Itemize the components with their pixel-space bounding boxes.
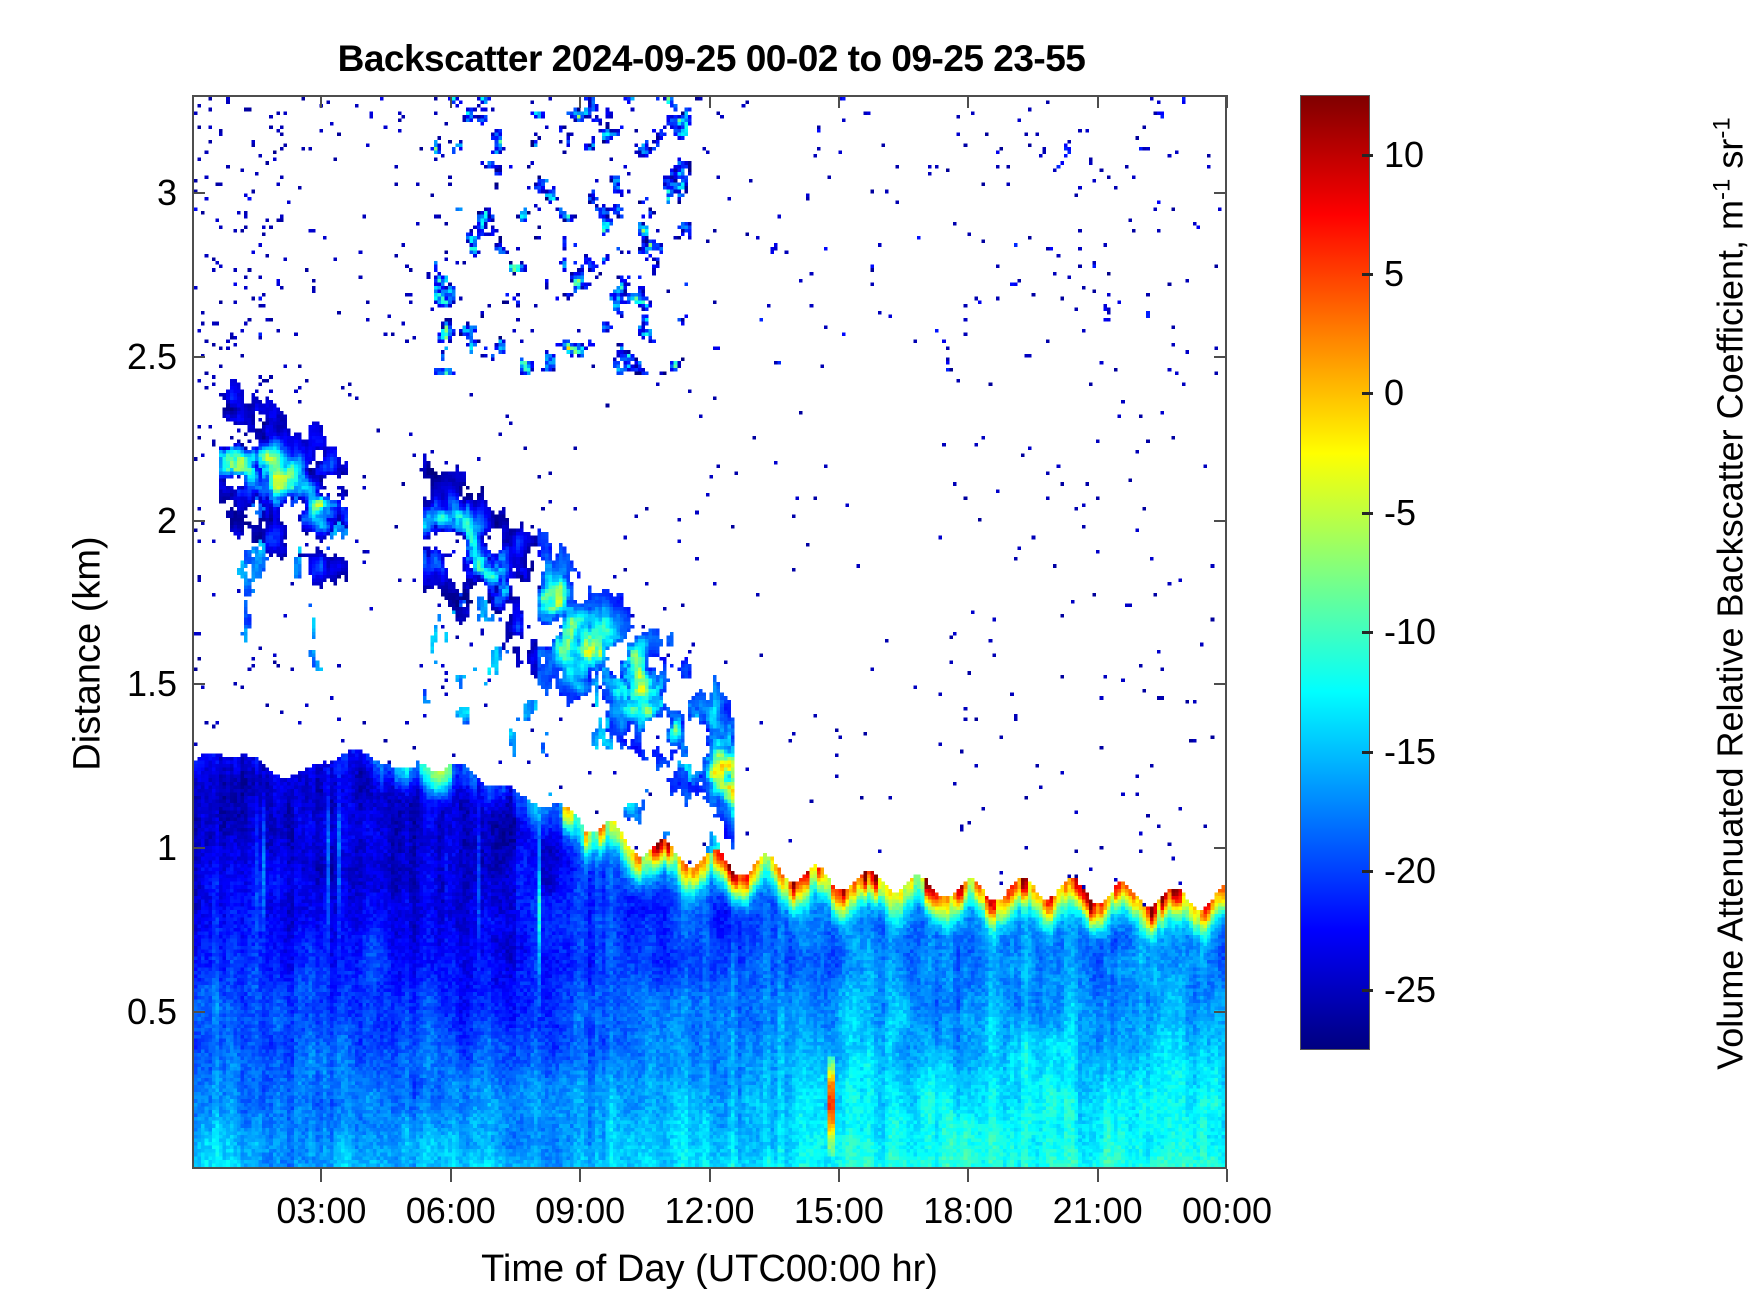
colorbar-tick xyxy=(1362,989,1373,992)
y-axis-tick xyxy=(192,192,205,194)
colorbar-tick-label: -20 xyxy=(1384,850,1436,892)
x-axis-tick-label: 12:00 xyxy=(664,1190,754,1232)
colorbar-label-main: Volume Attenuated Relative Backscatter C… xyxy=(1710,200,1750,1070)
x-axis-tick xyxy=(320,1169,322,1182)
y-axis-tick-label: 0.5 xyxy=(127,991,177,1033)
colorbar-tick xyxy=(1362,273,1373,276)
x-axis-tick xyxy=(579,1169,581,1182)
x-axis-tick xyxy=(450,1169,452,1182)
x-axis-tick-top xyxy=(838,95,840,108)
y-axis-tick xyxy=(192,520,205,522)
y-axis-tick-right xyxy=(1214,847,1227,849)
colorbar-tick xyxy=(1362,631,1373,634)
colorbar-label-exp-1: -1 xyxy=(1709,179,1736,200)
colorbar-tick-label: -10 xyxy=(1384,611,1436,653)
x-axis-tick-label: 00:00 xyxy=(1182,1190,1272,1232)
x-axis-tick-label: 18:00 xyxy=(923,1190,1013,1232)
x-axis-tick-top xyxy=(579,95,581,108)
colorbar-tick-label: 0 xyxy=(1384,372,1404,414)
colorbar-tick-label: -5 xyxy=(1384,492,1416,534)
x-axis-tick xyxy=(838,1169,840,1182)
x-axis-tick-label: 21:00 xyxy=(1053,1190,1143,1232)
y-axis-tick-label: 2 xyxy=(157,500,177,542)
colorbar-tick xyxy=(1362,392,1373,395)
y-axis-tick-right xyxy=(1214,1011,1227,1013)
y-axis-tick-right xyxy=(1214,520,1227,522)
y-axis-label: Distance (km) xyxy=(67,334,110,974)
colorbar-tick xyxy=(1362,512,1373,515)
y-axis-tick xyxy=(192,1011,205,1013)
x-axis-tick xyxy=(709,1169,711,1182)
y-axis-tick xyxy=(192,847,205,849)
x-axis-tick xyxy=(1097,1169,1099,1182)
y-axis-tick-right xyxy=(1214,192,1227,194)
y-axis-tick-right xyxy=(1214,683,1227,685)
colorbar-label-exp-2: -1 xyxy=(1709,117,1736,138)
y-axis-tick-label: 1 xyxy=(157,827,177,869)
colorbar-tick xyxy=(1362,870,1373,873)
x-axis-tick-top xyxy=(1097,95,1099,108)
x-axis-tick xyxy=(1226,1169,1228,1182)
x-axis-tick-top xyxy=(709,95,711,108)
chart-title: Backscatter 2024-09-25 00-02 to 09-25 23… xyxy=(196,38,1227,80)
x-axis-tick xyxy=(967,1169,969,1182)
x-axis-tick-top xyxy=(320,95,322,108)
x-axis-tick-top xyxy=(450,95,452,108)
colorbar-tick-label: -15 xyxy=(1384,731,1436,773)
x-axis-tick-label: 03:00 xyxy=(276,1190,366,1232)
colorbar-label: Volume Attenuated Relative Backscatter C… xyxy=(1709,54,1750,1134)
backscatter-heatmap xyxy=(194,97,1225,1167)
y-axis-tick-label: 1.5 xyxy=(127,663,177,705)
colorbar-label-mid: sr xyxy=(1710,139,1750,179)
colorbar-tick-label: 10 xyxy=(1384,134,1424,176)
colorbar-tick xyxy=(1362,751,1373,754)
x-axis-label: Time of Day (UTC00:00 hr) xyxy=(192,1248,1227,1291)
x-axis-tick-top xyxy=(1226,95,1228,108)
x-axis-tick-top xyxy=(967,95,969,108)
backscatter-figure: Backscatter 2024-09-25 00-02 to 09-25 23… xyxy=(0,0,1750,1313)
y-axis-tick xyxy=(192,683,205,685)
plot-area xyxy=(192,95,1227,1169)
colorbar-gradient xyxy=(1300,95,1370,1050)
y-axis-tick-label: 2.5 xyxy=(127,336,177,378)
y-axis-tick xyxy=(192,356,205,358)
x-axis-tick-label: 06:00 xyxy=(406,1190,496,1232)
colorbar-tick-label: 5 xyxy=(1384,253,1404,295)
x-axis-tick-label: 09:00 xyxy=(535,1190,625,1232)
colorbar-tick-label: -25 xyxy=(1384,969,1436,1011)
x-axis-tick-label: 15:00 xyxy=(794,1190,884,1232)
y-axis-tick-label: 3 xyxy=(157,172,177,214)
y-axis-tick-right xyxy=(1214,356,1227,358)
colorbar xyxy=(1300,95,1370,1050)
colorbar-tick xyxy=(1362,154,1373,157)
